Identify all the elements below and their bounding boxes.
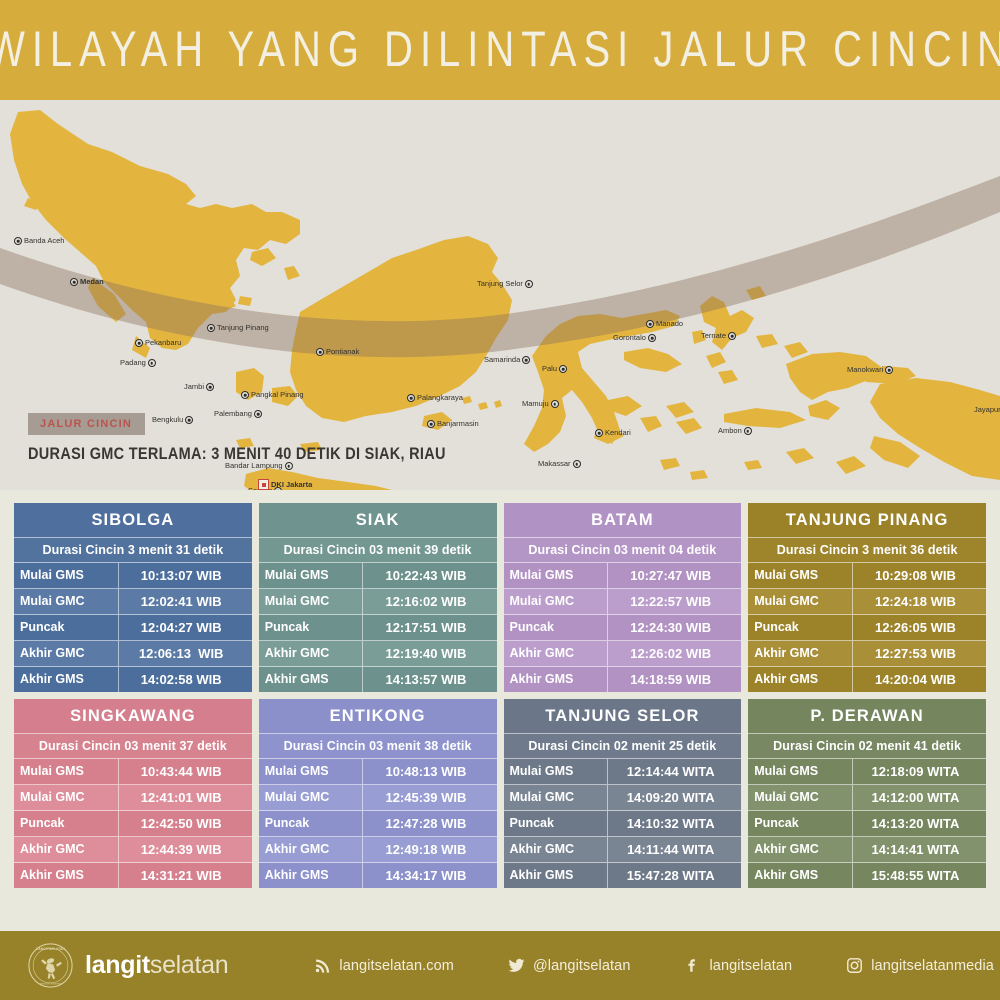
table-row: Mulai GMC12:41:01 WIB [14, 785, 252, 811]
twitter-icon [508, 957, 525, 974]
row-value: 14:18:59 WIB [608, 667, 741, 692]
row-label: Mulai GMC [14, 589, 119, 614]
table-row: Puncak14:13:20 WITA [748, 811, 986, 837]
table-row: Puncak14:10:32 WITA [504, 811, 742, 837]
table-row: Akhir GMC14:14:41 WITA [748, 837, 986, 863]
row-label: Puncak [259, 811, 364, 836]
row-label: Mulai GMS [748, 563, 853, 588]
table-row: Akhir GMC12:44:39 WIB [14, 837, 252, 863]
row-value: 12:18:09 WITA [853, 759, 986, 784]
card-title: TANJUNG SELOR [504, 699, 742, 734]
brand-bold: langit [85, 951, 150, 979]
row-label: Puncak [748, 811, 853, 836]
city-dot-icon [646, 320, 654, 328]
social-link[interactable]: langitselatanmedia [846, 957, 994, 974]
table-row: Akhir GMC12:19:40 WIB [259, 641, 497, 667]
map-city-marker: Mamuju [522, 400, 559, 408]
row-value: 12:42:50 WIB [119, 811, 252, 836]
row-value: 12:49:18 WIB [363, 837, 496, 862]
card-duration-subtitle: Durasi Cincin 02 menit 41 detik [748, 734, 986, 759]
social-handle: langitselatan.com [339, 958, 454, 974]
row-label: Mulai GMC [14, 785, 119, 810]
map-city-marker: Tanjung Pinang [207, 324, 269, 332]
social-handle: langitselatan [709, 958, 792, 974]
table-row: Akhir GMS14:31:21 WIB [14, 863, 252, 888]
table-row: Puncak12:17:51 WIB [259, 615, 497, 641]
row-value: 14:11:44 WITA [608, 837, 741, 862]
row-value: 12:22:57 WIB [608, 589, 741, 614]
city-timing-cards: SIBOLGADurasi Cincin 3 menit 31 detikMul… [0, 490, 1000, 888]
map-city-marker: Medan [70, 278, 104, 286]
map-city-marker: Manado [646, 320, 683, 328]
row-value: 14:31:21 WIB [119, 863, 252, 888]
city-label: Pekanbaru [145, 339, 181, 347]
social-link[interactable]: langitselatan [684, 957, 792, 974]
map-city-marker: Bengkulu [152, 416, 193, 424]
map-city-marker: Palembang [214, 410, 262, 418]
row-label: Akhir GMC [504, 641, 609, 666]
table-row: Akhir GMS14:18:59 WIB [504, 667, 742, 692]
map-city-marker: Manokwari [847, 366, 893, 374]
card-title: BATAM [504, 503, 742, 538]
table-row: Akhir GMS15:47:28 WITA [504, 863, 742, 888]
table-row: Puncak12:47:28 WIB [259, 811, 497, 837]
map-city-marker: Pontianak [316, 348, 359, 356]
brand-wordmark: langitselatan [85, 951, 228, 980]
card-title: SIBOLGA [14, 503, 252, 538]
table-row: Mulai GMS10:22:43 WIB [259, 563, 497, 589]
row-value: 14:13:57 WIB [363, 667, 496, 692]
row-label: Akhir GMC [259, 837, 364, 862]
table-row: Akhir GMC12:26:02 WIB [504, 641, 742, 667]
row-label: Akhir GMC [14, 641, 119, 666]
row-value: 12:27:53 WIB [853, 641, 986, 666]
table-row: Akhir GMS14:02:58 WIB [14, 667, 252, 692]
timing-card: TANJUNG SELORDurasi Cincin 02 menit 25 d… [504, 699, 742, 888]
city-dot-icon [595, 429, 603, 437]
row-value: 14:20:04 WIB [853, 667, 986, 692]
card-title: P. DERAWAN [748, 699, 986, 734]
row-value: 12:44:39 WIB [119, 837, 252, 862]
table-row: Mulai GMS10:29:08 WIB [748, 563, 986, 589]
row-value: 10:13:07 WIB [119, 563, 252, 588]
map-city-marker: Kendari [595, 429, 631, 437]
infographic-page: WILAYAH YANG DILINTASI JALUR CINCIN [0, 0, 1000, 1000]
row-value: 14:34:17 WIB [363, 863, 496, 888]
table-row: Mulai GMS10:43:44 WIB [14, 759, 252, 785]
row-value: 12:26:05 WIB [853, 615, 986, 640]
timing-card: SIAKDurasi Cincin 03 menit 39 detikMulai… [259, 503, 497, 692]
card-title: ENTIKONG [259, 699, 497, 734]
city-label: Jayapura [974, 406, 1000, 414]
city-label: Pangkal Pinang [251, 391, 304, 399]
row-label: Puncak [14, 811, 119, 836]
row-value: 12:45:39 WIB [363, 785, 496, 810]
row-value: 12:26:02 WIB [608, 641, 741, 666]
city-label: Mamuju [522, 400, 549, 408]
row-value: 10:22:43 WIB [363, 563, 496, 588]
map-city-marker: Palu [542, 365, 567, 373]
table-row: Mulai GMS12:18:09 WITA [748, 759, 986, 785]
capital-marker-icon [258, 479, 269, 490]
city-label: Ambon [718, 427, 742, 435]
city-label: Banda Aceh [24, 237, 64, 245]
map-city-marker: Tanjung Selor [477, 280, 533, 288]
city-dot-icon [14, 237, 22, 245]
city-dot-icon [254, 410, 262, 418]
row-value: 14:14:41 WITA [853, 837, 986, 862]
city-label: Banjarmasin [437, 420, 479, 428]
map-city-marker: Pangkal Pinang [241, 391, 304, 399]
row-label: Akhir GMS [259, 863, 364, 888]
row-value: 14:09:20 WITA [608, 785, 741, 810]
timing-card: SINGKAWANGDurasi Cincin 03 menit 37 deti… [14, 699, 252, 888]
row-value: 12:24:30 WIB [608, 615, 741, 640]
card-title: SIAK [259, 503, 497, 538]
row-value: 10:29:08 WIB [853, 563, 986, 588]
timing-card: TANJUNG PINANGDurasi Cincin 3 menit 36 d… [748, 503, 986, 692]
row-label: Akhir GMC [748, 837, 853, 862]
table-row: Akhir GMC14:11:44 WITA [504, 837, 742, 863]
city-label: Makassar [538, 460, 571, 468]
table-row: Mulai GMS12:14:44 WITA [504, 759, 742, 785]
row-label: Puncak [504, 615, 609, 640]
svg-text:LANGITSELATAN: LANGITSELATAN [36, 947, 65, 951]
row-label: Mulai GMC [504, 589, 609, 614]
card-duration-subtitle: Durasi Cincin 03 menit 04 detik [504, 538, 742, 563]
row-label: Mulai GMS [259, 759, 364, 784]
card-duration-subtitle: Durasi Cincin 03 menit 38 detik [259, 734, 497, 759]
row-value: 10:27:47 WIB [608, 563, 741, 588]
city-label: Pontianak [326, 348, 359, 356]
city-dot-icon [427, 420, 435, 428]
row-value: 12:24:18 WIB [853, 589, 986, 614]
city-dot-icon [648, 334, 656, 342]
city-label: Bengkulu [152, 416, 183, 424]
table-row: Akhir GMC12:06:13 WIB [14, 641, 252, 667]
city-label: Ternate [701, 332, 726, 340]
card-title: TANJUNG PINANG [748, 503, 986, 538]
row-label: Mulai GMS [504, 759, 609, 784]
row-label: Akhir GMC [748, 641, 853, 666]
card-duration-subtitle: Durasi Cincin 3 menit 31 detik [14, 538, 252, 563]
row-label: Mulai GMC [748, 589, 853, 614]
timing-card: ENTIKONGDurasi Cincin 03 menit 38 detikM… [259, 699, 497, 888]
row-value: 14:13:20 WITA [853, 811, 986, 836]
table-row: Puncak12:42:50 WIB [14, 811, 252, 837]
map-city-marker: Pekanbaru [135, 339, 181, 347]
table-row: Mulai GMC12:16:02 WIB [259, 589, 497, 615]
table-row: Mulai GMC12:24:18 WIB [748, 589, 986, 615]
city-label: Samarinda [484, 356, 520, 364]
city-label: Medan [80, 278, 104, 286]
row-label: Akhir GMC [259, 641, 364, 666]
map-city-marker: Palangkaraya [407, 394, 463, 402]
map-city-marker: Gorontalo [613, 334, 656, 342]
map-city-marker: Samarinda [484, 356, 530, 364]
city-dot-icon [559, 365, 567, 373]
city-label: Palembang [214, 410, 252, 418]
legend-badge: JALUR CINCIN [28, 413, 145, 435]
city-label: Gorontalo [613, 334, 646, 342]
row-value: 12:17:51 WIB [363, 615, 496, 640]
city-label: Tanjung Selor [477, 280, 523, 288]
row-label: Mulai GMC [748, 785, 853, 810]
city-label: Jambi [184, 383, 204, 391]
city-dot-icon [573, 460, 581, 468]
city-dot-icon [407, 394, 415, 402]
row-value: 12:47:28 WIB [363, 811, 496, 836]
city-dot-icon [148, 359, 156, 367]
svg-text:astronomi indonesia: astronomi indonesia [40, 982, 62, 985]
row-label: Akhir GMS [259, 667, 364, 692]
row-label: Akhir GMC [504, 837, 609, 862]
footer-bar: LANGITSELATAN astronomi indonesia langit… [0, 931, 1000, 1000]
map-caption: DURASI GMC TERLAMA: 3 MENIT 40 DETIK DI … [28, 445, 446, 463]
row-label: Mulai GMC [259, 589, 364, 614]
city-label: Manokwari [847, 366, 883, 374]
table-row: Akhir GMC12:49:18 WIB [259, 837, 497, 863]
row-value: 14:02:58 WIB [119, 667, 252, 692]
facebook-icon [684, 957, 701, 974]
row-label: Akhir GMS [14, 863, 119, 888]
city-label: Manado [656, 320, 683, 328]
map-city-marker: Makassar [538, 460, 581, 468]
row-label: Akhir GMS [14, 667, 119, 692]
row-label: Akhir GMS [748, 863, 853, 888]
city-dot-icon [70, 278, 78, 286]
city-dot-icon [885, 366, 893, 374]
timing-card: BATAMDurasi Cincin 03 menit 04 detikMula… [504, 503, 742, 692]
table-row: Mulai GMS10:13:07 WIB [14, 563, 252, 589]
city-dot-icon [241, 391, 249, 399]
map-city-marker: DKI Jakarta [258, 479, 312, 490]
map-city-marker: Jayapura [974, 406, 1000, 414]
city-label: Padang [120, 359, 146, 367]
city-dot-icon [135, 339, 143, 347]
city-label: Tanjung Pinang [217, 324, 269, 332]
legend-label: JALUR CINCIN [40, 418, 132, 430]
city-label: Palu [542, 365, 557, 373]
row-label: Akhir GMS [748, 667, 853, 692]
row-label: Puncak [259, 615, 364, 640]
city-dot-icon [744, 427, 752, 435]
rss-icon [314, 957, 331, 974]
card-duration-subtitle: Durasi Cincin 03 menit 39 detik [259, 538, 497, 563]
row-label: Akhir GMS [504, 863, 609, 888]
row-label: Puncak [14, 615, 119, 640]
city-dot-icon [551, 400, 559, 408]
brand-logo: LANGITSELATAN astronomi indonesia langit… [27, 942, 228, 989]
city-dot-icon [316, 348, 324, 356]
social-link[interactable]: langitselatan.com [314, 957, 454, 974]
page-title: WILAYAH YANG DILINTASI JALUR CINCIN [0, 22, 1000, 78]
table-row: Mulai GMC12:22:57 WIB [504, 589, 742, 615]
table-row: Puncak12:04:27 WIB [14, 615, 252, 641]
map-city-marker: Banda Aceh [14, 237, 64, 245]
table-row: Mulai GMS10:27:47 WIB [504, 563, 742, 589]
row-value: 12:14:44 WITA [608, 759, 741, 784]
social-links: langitselatan.com@langitselatanlangitsel… [314, 957, 994, 974]
table-row: Mulai GMC14:12:00 WITA [748, 785, 986, 811]
map-city-marker: Jambi [184, 383, 214, 391]
table-row: Mulai GMC14:09:20 WITA [504, 785, 742, 811]
city-label: Kendari [605, 429, 631, 437]
row-value: 12:19:40 WIB [363, 641, 496, 666]
row-value: 14:10:32 WITA [608, 811, 741, 836]
table-row: Akhir GMS14:20:04 WIB [748, 667, 986, 692]
timing-card: SIBOLGADurasi Cincin 3 menit 31 detikMul… [14, 503, 252, 692]
table-row: Akhir GMS14:13:57 WIB [259, 667, 497, 692]
row-label: Mulai GMC [504, 785, 609, 810]
instagram-icon [846, 957, 863, 974]
table-row: Mulai GMC12:45:39 WIB [259, 785, 497, 811]
row-value: 10:48:13 WIB [363, 759, 496, 784]
city-label: DKI Jakarta [271, 481, 312, 489]
city-dot-icon [206, 383, 214, 391]
city-dot-icon [728, 332, 736, 340]
card-title: SINGKAWANG [14, 699, 252, 734]
row-value: 12:16:02 WIB [363, 589, 496, 614]
indonesia-map [0, 100, 1000, 490]
row-value: 15:48:55 WITA [853, 863, 986, 888]
row-value: 14:12:00 WITA [853, 785, 986, 810]
row-value: 15:47:28 WITA [608, 863, 741, 888]
city-dot-icon [522, 356, 530, 364]
header-banner: WILAYAH YANG DILINTASI JALUR CINCIN [0, 0, 1000, 100]
map-city-marker: Ternate [701, 332, 736, 340]
row-label: Mulai GMS [14, 759, 119, 784]
city-label: Palangkaraya [417, 394, 463, 402]
row-label: Mulai GMC [259, 785, 364, 810]
langitselatan-emblem-icon: LANGITSELATAN astronomi indonesia [27, 942, 74, 989]
table-row: Akhir GMS15:48:55 WITA [748, 863, 986, 888]
table-row: Mulai GMS10:48:13 WIB [259, 759, 497, 785]
row-label: Mulai GMS [748, 759, 853, 784]
row-value: 10:43:44 WIB [119, 759, 252, 784]
map-city-marker: Banjarmasin [427, 420, 479, 428]
city-dot-icon [185, 416, 193, 424]
map-city-marker: Padang [120, 359, 156, 367]
card-duration-subtitle: Durasi Cincin 3 menit 36 detik [748, 538, 986, 563]
timing-card: P. DERAWANDurasi Cincin 02 menit 41 deti… [748, 699, 986, 888]
map-city-marker: Ambon [718, 427, 752, 435]
social-handle: langitselatanmedia [871, 958, 994, 974]
table-row: Akhir GMS14:34:17 WIB [259, 863, 497, 888]
table-row: Akhir GMC12:27:53 WIB [748, 641, 986, 667]
row-label: Akhir GMS [504, 667, 609, 692]
row-label: Mulai GMS [14, 563, 119, 588]
city-dot-icon [525, 280, 533, 288]
row-value: 12:04:27 WIB [119, 615, 252, 640]
table-row: Puncak12:24:30 WIB [504, 615, 742, 641]
card-duration-subtitle: Durasi Cincin 03 menit 37 detik [14, 734, 252, 759]
row-label: Mulai GMS [504, 563, 609, 588]
row-label: Puncak [504, 811, 609, 836]
row-label: Akhir GMC [14, 837, 119, 862]
social-handle: @langitselatan [533, 958, 631, 974]
social-link[interactable]: @langitselatan [508, 957, 631, 974]
row-label: Mulai GMS [259, 563, 364, 588]
row-label: Puncak [748, 615, 853, 640]
table-row: Mulai GMC12:02:41 WIB [14, 589, 252, 615]
row-value: 12:41:01 WIB [119, 785, 252, 810]
row-value: 12:02:41 WIB [119, 589, 252, 614]
map-panel: Banda AcehMedanTanjung PinangPekanbaruPa… [0, 100, 1000, 490]
city-dot-icon [207, 324, 215, 332]
brand-light: selatan [150, 951, 229, 979]
table-row: Puncak12:26:05 WIB [748, 615, 986, 641]
row-value: 12:06:13 WIB [119, 641, 252, 666]
card-duration-subtitle: Durasi Cincin 02 menit 25 detik [504, 734, 742, 759]
